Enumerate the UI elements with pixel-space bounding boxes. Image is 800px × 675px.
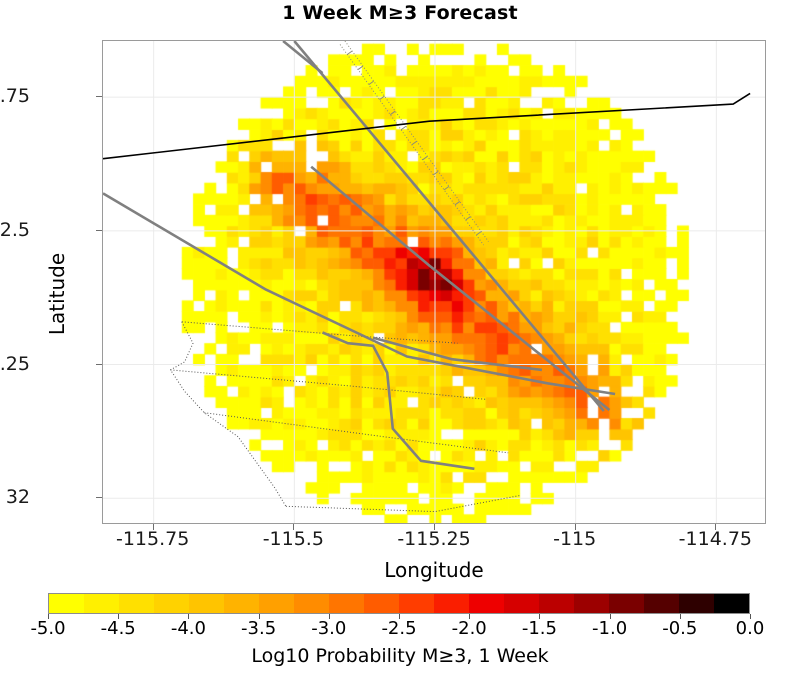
x-tick-mark xyxy=(715,524,716,530)
x-axis-label: Longitude xyxy=(102,558,766,582)
colorbar-segment xyxy=(644,594,679,613)
colorbar-segment xyxy=(399,594,434,613)
colorbar xyxy=(48,593,750,614)
colorbar-segment xyxy=(224,594,259,613)
colorbar-segment xyxy=(49,594,84,613)
colorbar-tick-label: -4.5 xyxy=(101,618,136,639)
y-axis-label: Latitude xyxy=(45,214,69,374)
colorbar-tick-label: 0.0 xyxy=(736,618,765,639)
y-tick-label: 32.5 xyxy=(0,219,30,241)
colorbar-segment xyxy=(539,594,574,613)
x-tick-label: -115 xyxy=(553,528,596,550)
colorbar-segment xyxy=(294,594,329,613)
x-tick-label: -115.25 xyxy=(397,528,470,550)
colorbar-tick-label: -1.0 xyxy=(592,618,627,639)
colorbar-segment xyxy=(364,594,399,613)
y-tick-mark xyxy=(96,364,102,365)
colorbar-segment xyxy=(434,594,469,613)
x-tick-mark xyxy=(293,524,294,530)
colorbar-tick-label: -3.0 xyxy=(311,618,346,639)
colorbar-segment xyxy=(714,594,749,613)
y-tick-label: 32.25 xyxy=(0,353,30,375)
map-overlay-lines xyxy=(103,41,766,524)
colorbar-tick-label: -2.0 xyxy=(452,618,487,639)
colorbar-gradient xyxy=(48,593,750,614)
colorbar-tick-label: -3.5 xyxy=(241,618,276,639)
colorbar-segment xyxy=(329,594,364,613)
colorbar-segment xyxy=(259,594,294,613)
colorbar-segment xyxy=(504,594,539,613)
colorbar-tick-label: -4.0 xyxy=(171,618,206,639)
colorbar-tick-label: -0.5 xyxy=(662,618,697,639)
colorbar-segment xyxy=(469,594,504,613)
x-tick-mark xyxy=(434,524,435,530)
y-tick-mark xyxy=(96,96,102,97)
x-tick-mark xyxy=(575,524,576,530)
colorbar-segment xyxy=(679,594,714,613)
colorbar-tick-label: -5.0 xyxy=(30,618,65,639)
x-tick-label: -115.5 xyxy=(263,528,324,550)
figure-title: 1 Week M≥3 Forecast xyxy=(0,2,800,24)
x-tick-mark xyxy=(153,524,154,530)
colorbar-segment xyxy=(574,594,609,613)
colorbar-tick-label: -2.5 xyxy=(381,618,416,639)
colorbar-segment xyxy=(189,594,224,613)
x-tick-label: -114.75 xyxy=(679,528,752,550)
x-tick-label: -115.75 xyxy=(116,528,189,550)
y-tick-mark xyxy=(96,230,102,231)
y-tick-label: 32.75 xyxy=(0,85,30,107)
y-tick-mark xyxy=(96,497,102,498)
colorbar-segment xyxy=(609,594,644,613)
colorbar-segment xyxy=(84,594,119,613)
colorbar-tick-label: -1.5 xyxy=(522,618,557,639)
y-tick-label: 32 xyxy=(0,486,30,508)
map-plot-area xyxy=(102,40,766,524)
forecast-map-figure: 1 Week M≥3 Forecast 32.7532.532.2532-115… xyxy=(0,0,800,675)
colorbar-label: Log10 Probability M≥3, 1 Week xyxy=(0,645,800,667)
colorbar-segment xyxy=(154,594,189,613)
colorbar-segment xyxy=(119,594,154,613)
